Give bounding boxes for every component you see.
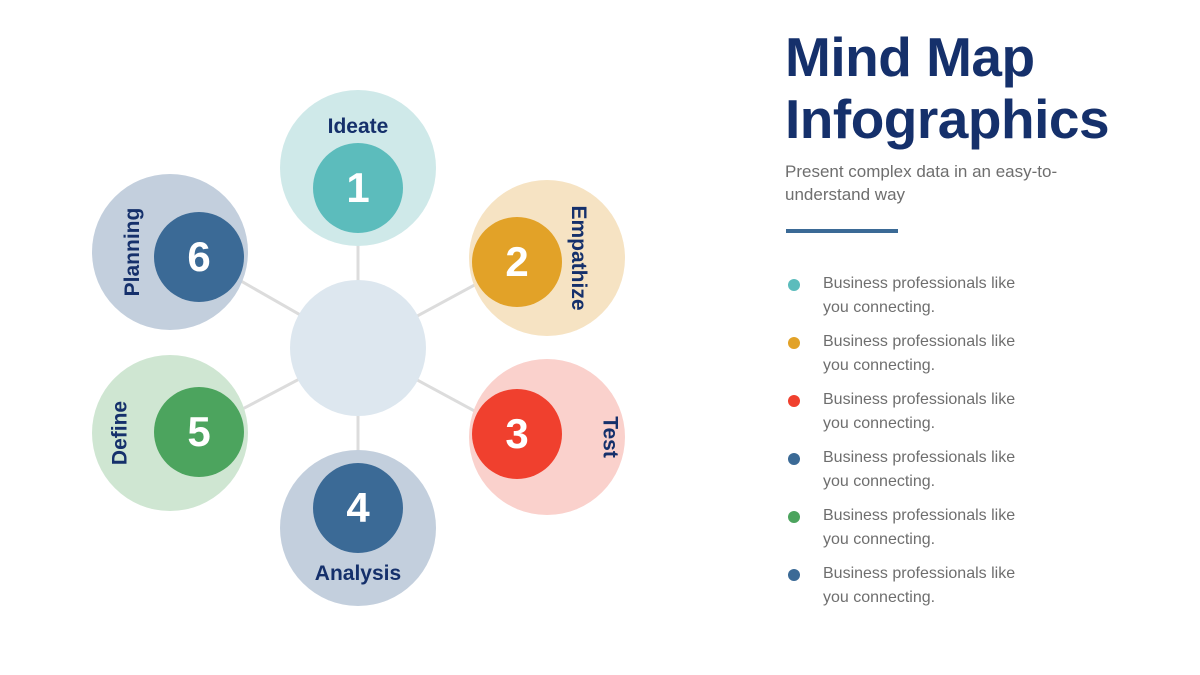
node-label-empathize: Empathize: [568, 205, 589, 310]
connector-line-5: [239, 380, 298, 411]
connector-line-3: [418, 380, 478, 412]
slide-canvas: Ideate 1 Empathize 2 Test 3 Analysis 4 D…: [0, 0, 1200, 675]
mind-map-hub[interactable]: [290, 280, 426, 416]
mind-map-node-4[interactable]: Analysis 4: [280, 450, 436, 606]
legend-item[interactable]: Business professionals like you connecti…: [785, 504, 1045, 562]
node-inner-6[interactable]: 6: [154, 212, 244, 302]
legend-bullet-icon: [788, 511, 800, 523]
connector-line-6: [238, 279, 299, 314]
legend-item-label: Business professionals like you connecti…: [823, 504, 1023, 552]
mind-map-node-5[interactable]: Define 5: [92, 355, 248, 511]
text-panel: Mind Map Infographics Present complex da…: [785, 0, 1185, 675]
mind-map-node-2[interactable]: Empathize 2: [469, 180, 625, 336]
node-label-test: Test: [600, 416, 621, 458]
node-inner-1[interactable]: 1: [313, 143, 403, 233]
mind-map-node-6[interactable]: Planning 6: [92, 174, 248, 330]
mind-map-node-1[interactable]: Ideate 1: [280, 90, 436, 246]
node-number-5: 5: [187, 411, 210, 453]
legend-bullet-icon: [788, 395, 800, 407]
legend-bullet-icon: [788, 453, 800, 465]
node-label-planning: Planning: [122, 208, 143, 297]
node-inner-3[interactable]: 3: [472, 389, 562, 479]
mind-map-node-3[interactable]: Test 3: [469, 359, 625, 515]
node-label-define: Define: [110, 401, 131, 465]
legend-item-label: Business professionals like you connecti…: [823, 562, 1023, 610]
page-title-line-2: Infographics: [785, 88, 1109, 150]
legend-item[interactable]: Business professionals like you connecti…: [785, 330, 1045, 388]
node-number-4: 4: [346, 487, 369, 529]
legend-item-label: Business professionals like you connecti…: [823, 388, 1023, 436]
legend-item[interactable]: Business professionals like you connecti…: [785, 446, 1045, 504]
legend-item-label: Business professionals like you connecti…: [823, 272, 1023, 320]
legend-list: Business professionals like you connecti…: [785, 272, 1045, 620]
node-number-6: 6: [187, 236, 210, 278]
page-title-line-1: Mind Map: [785, 26, 1035, 88]
node-inner-5[interactable]: 5: [154, 387, 244, 477]
legend-item-label: Business professionals like you connecti…: [823, 446, 1023, 494]
node-inner-4[interactable]: 4: [313, 463, 403, 553]
node-number-3: 3: [505, 413, 528, 455]
legend-item[interactable]: Business professionals like you connecti…: [785, 388, 1045, 446]
connector-line-2: [418, 283, 478, 315]
title-divider: [786, 229, 898, 233]
node-number-1: 1: [346, 167, 369, 209]
legend-item[interactable]: Business professionals like you connecti…: [785, 562, 1045, 620]
page-title: Mind Map Infographics: [785, 26, 1115, 150]
node-label-ideate: Ideate: [280, 116, 436, 137]
legend-bullet-icon: [788, 279, 800, 291]
mind-map-diagram: Ideate 1 Empathize 2 Test 3 Analysis 4 D…: [0, 0, 740, 675]
page-subtitle: Present complex data in an easy-to-under…: [785, 160, 1085, 206]
node-number-2: 2: [505, 241, 528, 283]
node-label-analysis: Analysis: [280, 563, 436, 584]
legend-item[interactable]: Business professionals like you connecti…: [785, 272, 1045, 330]
legend-bullet-icon: [788, 569, 800, 581]
legend-item-label: Business professionals like you connecti…: [823, 330, 1023, 378]
legend-bullet-icon: [788, 337, 800, 349]
node-inner-2[interactable]: 2: [472, 217, 562, 307]
